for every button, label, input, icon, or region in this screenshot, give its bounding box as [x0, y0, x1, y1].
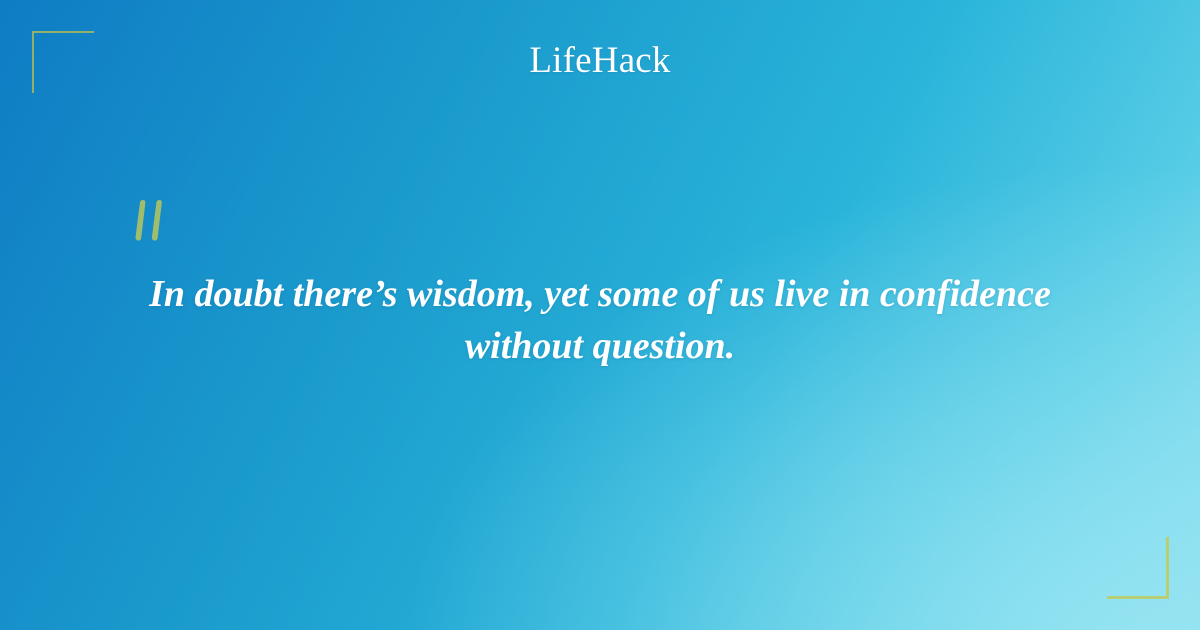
quote-mark-icon [131, 196, 177, 248]
quote-card: LifeHack In doubt there’s wisdom, yet so… [0, 0, 1200, 630]
quote-text: In doubt there’s wisdom, yet some of us … [100, 268, 1100, 372]
corner-bracket-top-left-icon [32, 31, 94, 93]
brand-logo: LifeHack [0, 40, 1200, 82]
corner-bracket-bottom-right-icon [1107, 537, 1169, 599]
quote-block: In doubt there’s wisdom, yet some of us … [100, 268, 1100, 372]
